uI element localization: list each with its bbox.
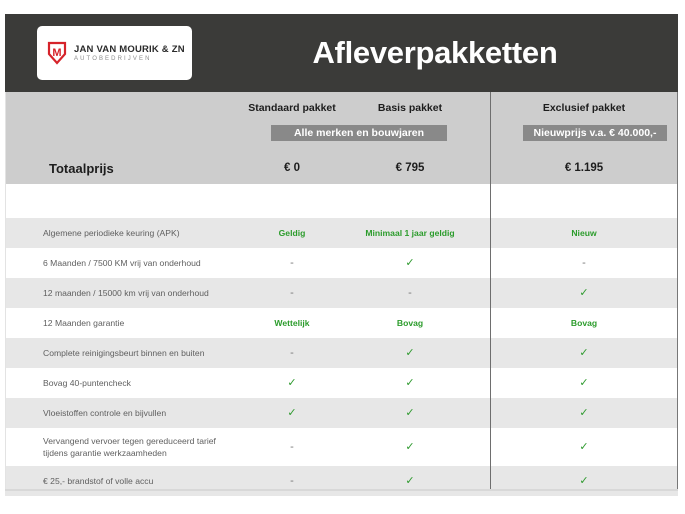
- table-row: Vervangend vervoer tegen gereduceerd tar…: [5, 428, 678, 466]
- sheet-bottom-border: [5, 489, 678, 491]
- row-feature-label: Algemene periodieke keuring (APK): [43, 218, 233, 248]
- package-names-row: Standaard pakket Basis pakket Exclusief …: [5, 102, 678, 118]
- row-value-exclusief: ✓: [490, 466, 678, 496]
- table-row: 6 Maanden / 7500 KM vrij van onderhoud-✓…: [5, 248, 678, 278]
- row-value-standaard: -: [237, 338, 347, 368]
- table-row: Algemene periodieke keuring (APK)GeldigM…: [5, 218, 678, 248]
- row-value-basis: Bovag: [355, 308, 465, 338]
- row-value-exclusief: ✓: [490, 398, 678, 428]
- row-value-basis: ✓: [355, 398, 465, 428]
- page-title: Afleverpakketten: [192, 14, 678, 92]
- row-value-exclusief: Nieuw: [490, 218, 678, 248]
- row-value-basis: -: [355, 278, 465, 308]
- row-value-standaard: Geldig: [237, 218, 347, 248]
- row-value-standaard: -: [237, 428, 347, 466]
- table-row: Complete reinigingsbeurt binnen en buite…: [5, 338, 678, 368]
- logo-company-subtitle: AUTOBEDRIJVEN: [74, 55, 185, 63]
- row-value-basis: ✓: [355, 466, 465, 496]
- column-header-exclusief: Exclusief pakket: [490, 102, 678, 114]
- column-header-basis: Basis pakket: [355, 102, 465, 114]
- row-value-exclusief: ✓: [490, 428, 678, 466]
- company-logo: M JAN VAN MOURIK & ZN AUTOBEDRIJVEN: [37, 26, 192, 80]
- comparison-sheet: M JAN VAN MOURIK & ZN AUTOBEDRIJVEN Afle…: [5, 14, 678, 491]
- badge-nieuwprijs: Nieuwprijs v.a. € 40.000,-: [523, 125, 667, 141]
- row-value-standaard: -: [237, 248, 347, 278]
- sheet-left-border: [5, 92, 6, 491]
- row-feature-label: Vloeistoffen controle en bijvullen: [43, 398, 233, 428]
- row-value-exclusief: ✓: [490, 368, 678, 398]
- row-value-exclusief: Bovag: [490, 308, 678, 338]
- table-row: 12 Maanden garantieWettelijkBovagBovag: [5, 308, 678, 338]
- totaalprijs-label: Totaalprijs: [49, 152, 114, 184]
- feature-table: Algemene periodieke keuring (APK)GeldigM…: [5, 218, 678, 496]
- column-header-standaard: Standaard pakket: [237, 102, 347, 114]
- row-value-basis: ✓: [355, 338, 465, 368]
- totaalprijs-basis: € 795: [355, 152, 465, 184]
- badge-alle-merken: Alle merken en bouwjaren: [271, 125, 447, 141]
- row-value-standaard: Wettelijk: [237, 308, 347, 338]
- shield-logo-icon: M: [47, 41, 67, 65]
- row-value-basis: ✓: [355, 248, 465, 278]
- band-spacer: [5, 184, 678, 218]
- table-row: € 25,- brandstof of volle accu-✓✓: [5, 466, 678, 496]
- row-value-basis: ✓: [355, 368, 465, 398]
- row-value-standaard: -: [237, 466, 347, 496]
- svg-text:M: M: [52, 47, 61, 59]
- row-feature-label: Bovag 40-puntencheck: [43, 368, 233, 398]
- row-value-exclusief: ✓: [490, 278, 678, 308]
- exclusief-column-divider: [490, 92, 491, 491]
- row-value-standaard: ✓: [237, 398, 347, 428]
- totaalprijs-exclusief: € 1.195: [490, 152, 678, 184]
- totaalprijs-standaard: € 0: [237, 152, 347, 184]
- row-feature-label: 12 Maanden garantie: [43, 308, 233, 338]
- row-value-standaard: ✓: [237, 368, 347, 398]
- row-value-basis: Minimaal 1 jaar geldig: [355, 218, 465, 248]
- row-feature-label: Complete reinigingsbeurt binnen en buite…: [43, 338, 233, 368]
- table-row: 12 maanden / 15000 km vrij van onderhoud…: [5, 278, 678, 308]
- row-value-exclusief: ✓: [490, 338, 678, 368]
- row-feature-label: € 25,- brandstof of volle accu: [43, 466, 233, 496]
- package-header-band: Standaard pakket Basis pakket Exclusief …: [5, 92, 678, 184]
- row-feature-label: Vervangend vervoer tegen gereduceerd tar…: [43, 428, 233, 466]
- row-feature-label: 6 Maanden / 7500 KM vrij van onderhoud: [43, 248, 233, 278]
- row-value-exclusief: -: [490, 248, 678, 278]
- totaalprijs-row: Totaalprijs € 0 € 795 € 1.195: [5, 152, 678, 184]
- table-row: Bovag 40-puntencheck✓✓✓: [5, 368, 678, 398]
- sheet-right-border: [677, 92, 678, 491]
- page-header: M JAN VAN MOURIK & ZN AUTOBEDRIJVEN Afle…: [5, 14, 678, 92]
- table-row: Vloeistoffen controle en bijvullen✓✓✓: [5, 398, 678, 428]
- row-value-basis: ✓: [355, 428, 465, 466]
- row-feature-label: 12 maanden / 15000 km vrij van onderhoud: [43, 278, 233, 308]
- row-value-standaard: -: [237, 278, 347, 308]
- logo-company-name: JAN VAN MOURIK & ZN: [74, 44, 185, 55]
